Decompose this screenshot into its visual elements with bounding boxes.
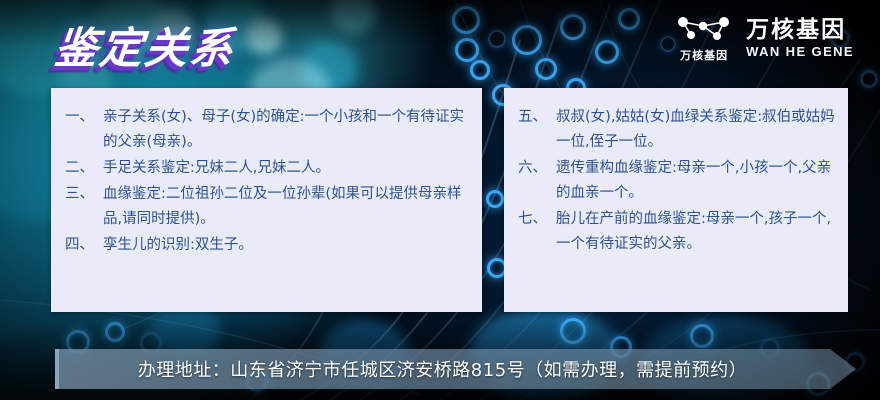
list-item: 三、 血缘鉴定:二位祖孙二位及一位孙辈(如果可以提供母亲样品,请同时提供)。 [65, 182, 470, 232]
list-item-number: 四、 [65, 233, 103, 258]
list-item: 七、 胎儿在产前的血缘鉴定:母亲一个,孩子一个,一个有待证实的父亲。 [518, 207, 836, 257]
list-item: 五、 叔叔(女),姑姑(女)血绿关系鉴定:叔伯或姑妈一位,侄子一位。 [518, 105, 836, 155]
address-bar: 办理地址：山东省济宁市任城区济安桥路815号（如需办理，需提前预约） [55, 349, 856, 389]
poster-canvas: 鉴定关系 万核基因 [0, 0, 880, 400]
list-item-text: 胎儿在产前的血缘鉴定:母亲一个,孩子一个,一个有待证实的父亲。 [556, 207, 836, 257]
list-item-text: 亲子关系(女)、母子(女)的确定:一个小孩和一个有待证实的父亲(母亲)。 [103, 105, 470, 155]
logo-wordmark: 万核基因 WAN HE GENE [746, 18, 854, 58]
page-title: 鉴定关系 [52, 14, 239, 76]
list-item-number: 五、 [518, 105, 556, 155]
logo-mark-label: 万核基因 [680, 47, 728, 63]
list-item: 四、 孪生儿的识别:双生子。 [65, 233, 470, 258]
list-item-text: 叔叔(女),姑姑(女)血绿关系鉴定:叔伯或姑妈一位,侄子一位。 [556, 105, 836, 155]
list-item-number: 七、 [518, 207, 556, 257]
services-panel-left: 一、 亲子关系(女)、母子(女)的确定:一个小孩和一个有待证实的父亲(母亲)。 … [51, 88, 482, 312]
brand-logo: 万核基因 万核基因 WAN HE GENE [676, 14, 854, 63]
logo-mark: 万核基因 [676, 14, 732, 63]
molecule-network-icon [676, 14, 732, 44]
list-item-text: 手足关系鉴定:兄妹二人,兄妹二人。 [103, 156, 470, 181]
list-item: 六、 遗传重构血缘鉴定:母亲一个,小孩一个,父亲的血亲一个。 [518, 156, 836, 206]
list-item-number: 二、 [65, 156, 103, 181]
services-panel-right: 五、 叔叔(女),姑姑(女)血绿关系鉴定:叔伯或姑妈一位,侄子一位。 六、 遗传… [504, 88, 848, 312]
logo-name-cn: 万核基因 [746, 18, 846, 42]
list-item: 一、 亲子关系(女)、母子(女)的确定:一个小孩和一个有待证实的父亲(母亲)。 [65, 105, 470, 155]
address-text: 办理地址：山东省济宁市任城区济安桥路815号（如需办理，需提前预约） [55, 349, 856, 389]
list-item: 二、 手足关系鉴定:兄妹二人,兄妹二人。 [65, 156, 470, 181]
list-item-number: 一、 [65, 105, 103, 155]
list-item-text: 孪生儿的识别:双生子。 [103, 233, 470, 258]
list-item-number: 六、 [518, 156, 556, 206]
logo-name-en: WAN HE GENE [746, 44, 854, 59]
list-item-text: 遗传重构血缘鉴定:母亲一个,小孩一个,父亲的血亲一个。 [556, 156, 836, 206]
list-item-number: 三、 [65, 182, 103, 232]
list-item-text: 血缘鉴定:二位祖孙二位及一位孙辈(如果可以提供母亲样品,请同时提供)。 [103, 182, 470, 232]
